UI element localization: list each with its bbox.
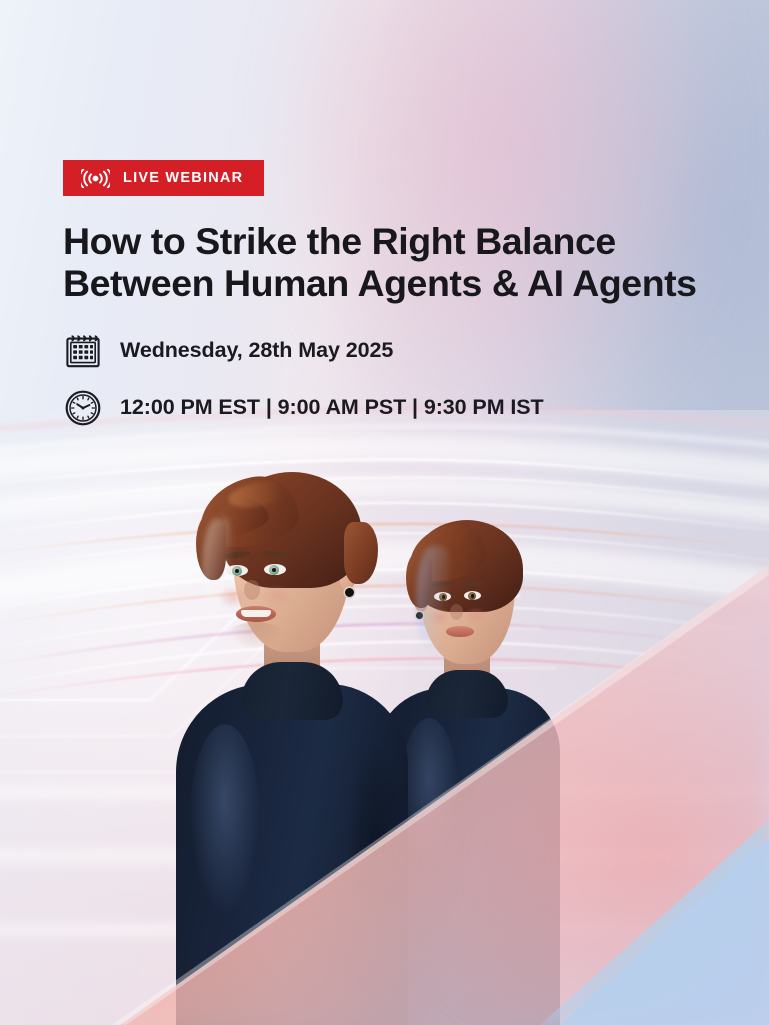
person-front-cheek-right (262, 585, 292, 607)
person-front-earring (345, 588, 354, 597)
webinar-date-text: Wednesday, 28th May 2025 (120, 339, 393, 363)
person-front-collar (241, 662, 343, 720)
person-back-lips (446, 626, 474, 637)
webinar-title: How to Strike the Right Balance Between … (63, 220, 713, 305)
webinar-time-text: 12:00 PM EST | 9:00 AM PST | 9:30 PM IST (120, 396, 544, 420)
person-back-collar (426, 670, 508, 718)
person-front-jaw-shade (228, 622, 284, 648)
person-back-rim-light (416, 546, 450, 650)
calendar-icon (63, 331, 103, 371)
person-back-pupil-right (471, 594, 475, 598)
person-front-shoulder-highlight (190, 724, 260, 914)
webinar-title-line-1: How to Strike the Right Balance (63, 220, 713, 262)
person-front-teeth (241, 610, 271, 617)
webinar-details: Wednesday, 28th May 2025 (63, 331, 723, 428)
person-back-cheek-right (464, 607, 488, 625)
clock-icon (63, 388, 103, 428)
webinar-title-line-2: Between Human Agents & AI Agents (63, 262, 713, 304)
person-front-hair-nape (344, 522, 378, 584)
broadcast-live-icon (81, 169, 110, 188)
person-front-rim-light (202, 518, 232, 628)
live-webinar-badge-label: LIVE WEBINAR (123, 171, 243, 186)
live-webinar-badge[interactable]: LIVE WEBINAR (63, 160, 264, 196)
webinar-date-row: Wednesday, 28th May 2025 (63, 331, 723, 371)
webinar-poster: LIVE WEBINAR How to Strike the Right Bal… (0, 0, 769, 1025)
webinar-time-row: 12:00 PM EST | 9:00 AM PST | 9:30 PM IST (63, 388, 723, 428)
poster-content: LIVE WEBINAR How to Strike the Right Bal… (63, 160, 723, 445)
